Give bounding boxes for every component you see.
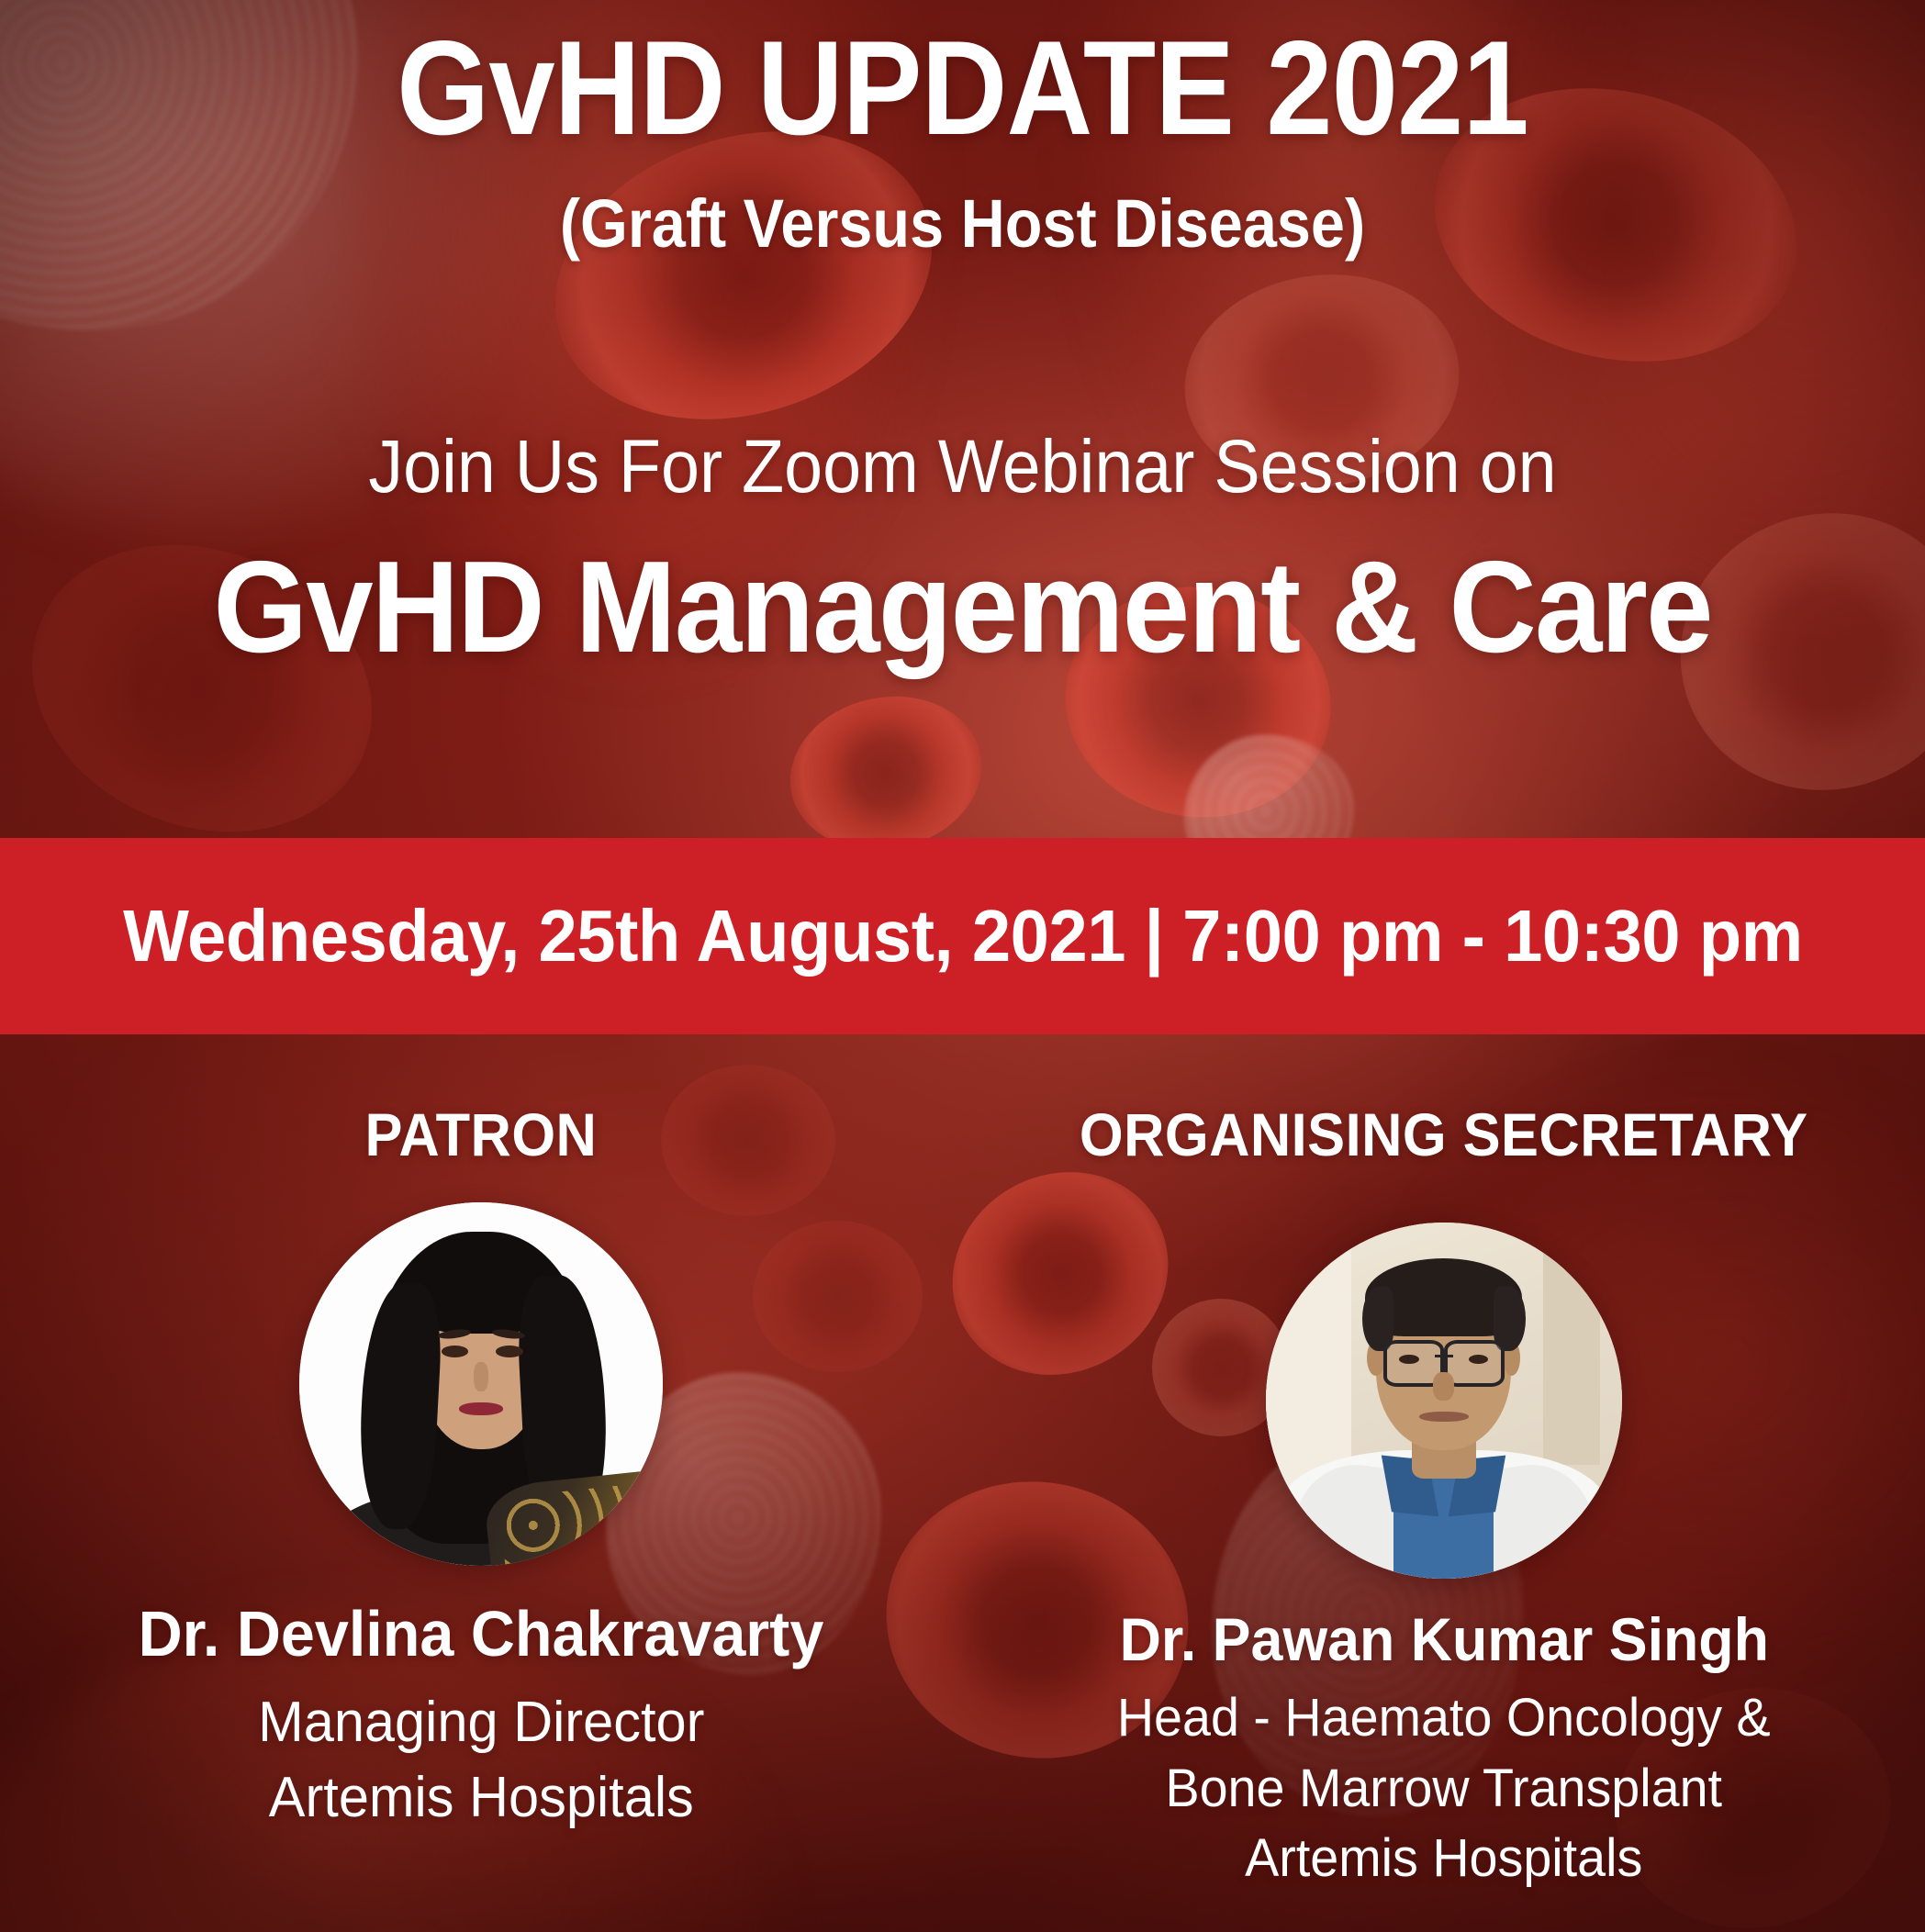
speaker-name: Dr. Devlina Chakravarty — [139, 1597, 824, 1670]
speaker-role-label: ORGANISING SECRETARY — [1080, 1100, 1808, 1169]
page-subtitle: (Graft Versus Host Disease) — [96, 188, 1829, 260]
speakers-section: PATRON — [0, 1100, 1925, 1894]
speaker-name: Dr. Pawan Kumar Singh — [1119, 1604, 1768, 1674]
speaker-card-patron: PATRON — [0, 1100, 963, 1894]
webinar-topic: GvHD Management & Care — [67, 540, 1857, 676]
webinar-poster: GvHD UPDATE 2021 (Graft Versus Host Dise… — [0, 0, 1925, 1932]
date-time-banner: Wednesday, 25th August, 2021 | 7:00 pm -… — [0, 838, 1925, 1034]
avatar — [299, 1202, 663, 1566]
speaker-designation-line: Managing Director — [258, 1685, 704, 1760]
speaker-card-organising-secretary: ORGANISING SECRETARY — [963, 1100, 1925, 1894]
speaker-designation-line: Artemis Hospitals — [258, 1760, 704, 1836]
speaker-designation: Head - Haemato Oncology & Bone Marrow Tr… — [1117, 1683, 1771, 1894]
invitation-line: Join Us For Zoom Webinar Session on — [77, 428, 1848, 507]
speaker-designation: Managing Director Artemis Hospitals — [258, 1685, 704, 1836]
speaker-designation-line: Artemis Hospitals — [1117, 1824, 1771, 1894]
avatar — [1266, 1223, 1622, 1579]
speaker-role-label: PATRON — [365, 1100, 598, 1169]
speaker-designation-line: Head - Haemato Oncology & — [1117, 1683, 1771, 1754]
date-time-text: Wednesday, 25th August, 2021 | 7:00 pm -… — [123, 894, 1803, 978]
page-title: GvHD UPDATE 2021 — [106, 20, 1819, 157]
speaker-designation-line: Bone Marrow Transplant — [1117, 1754, 1771, 1825]
